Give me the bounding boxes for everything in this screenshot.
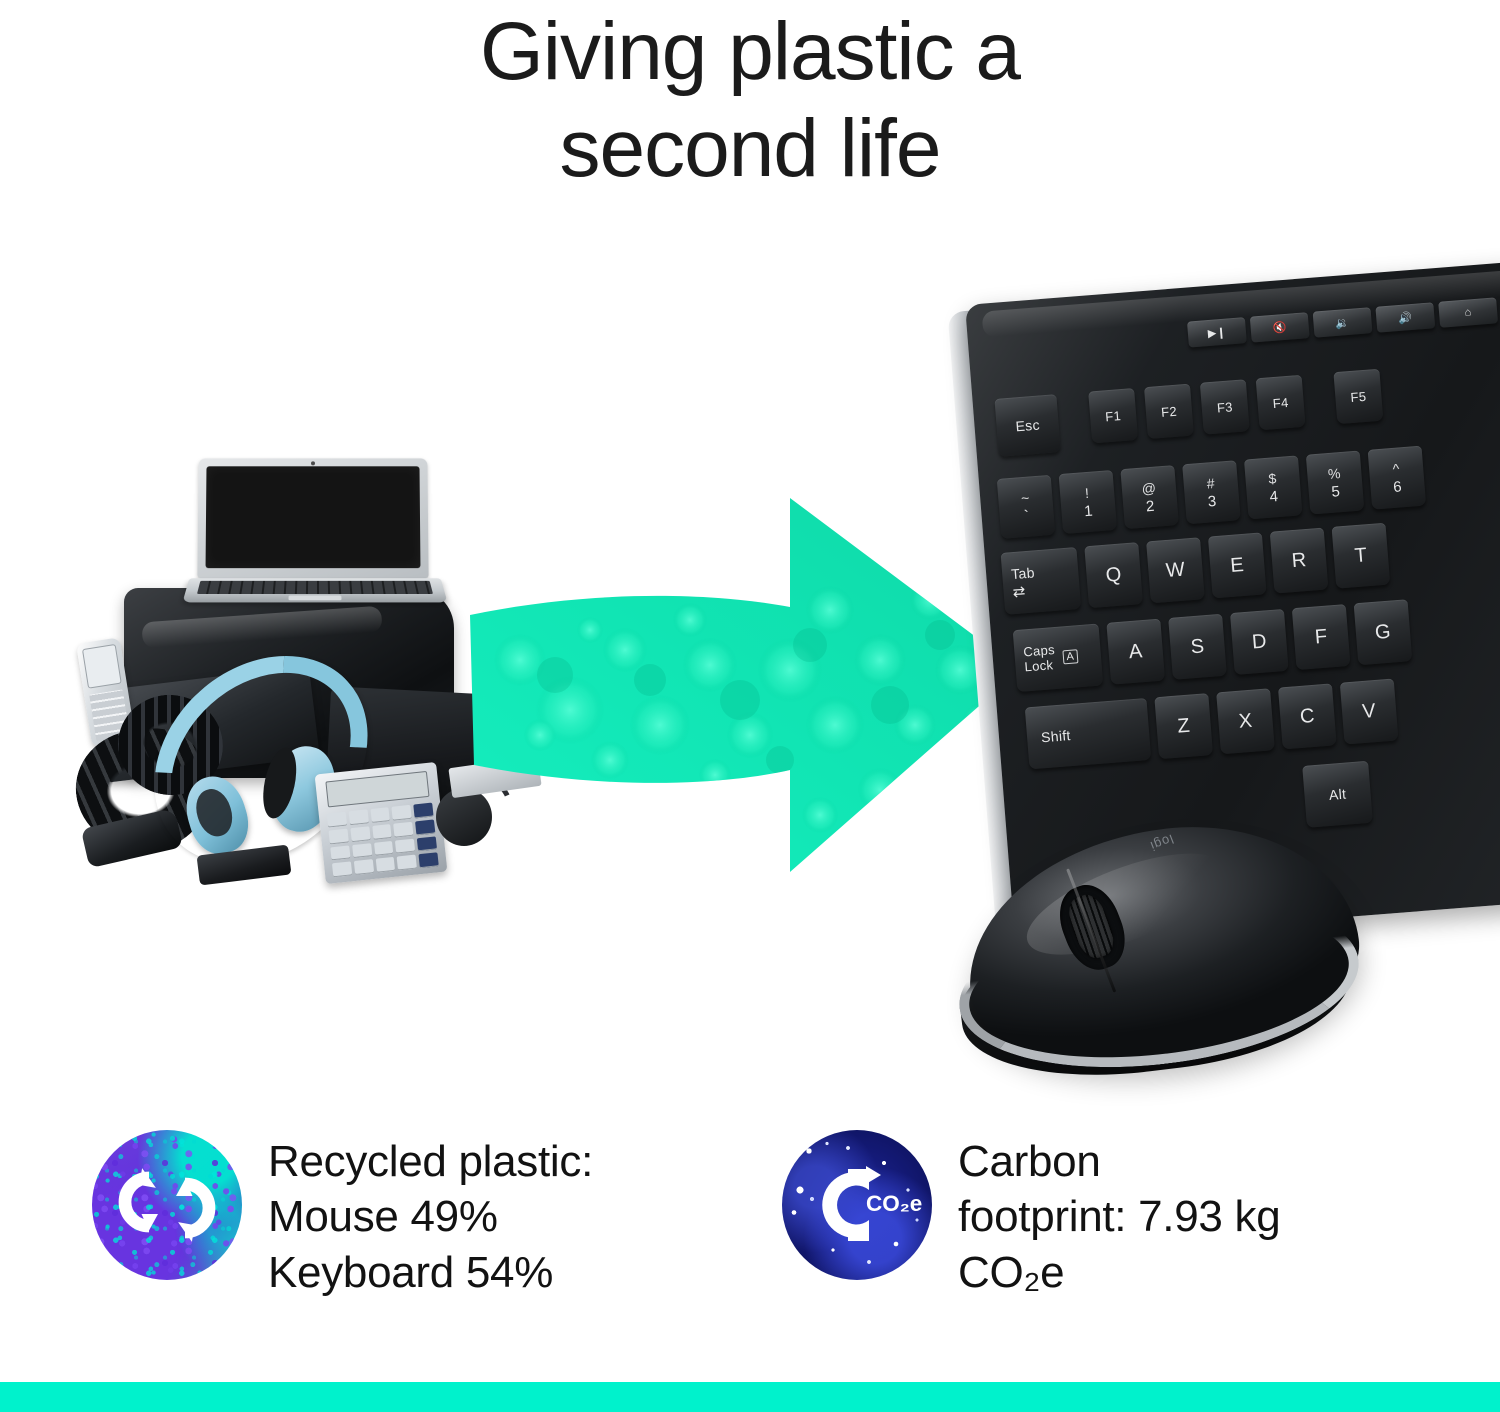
tab-arrows-icon: ⇄	[1012, 584, 1026, 600]
laptop-screen	[206, 466, 421, 568]
headline-line-1: Giving plastic a	[480, 6, 1020, 97]
key-play-pause-icon: ▶❙	[1187, 317, 1247, 347]
calculator-keypad	[327, 803, 439, 878]
key-c: C	[1278, 683, 1337, 749]
feature-carbon-footprint: CO₂e Carbon footprint: 7.93 kg CO₂e	[782, 1130, 1280, 1300]
key-esc: Esc	[994, 394, 1060, 457]
keyboard-function-row: Esc F1 F2 F3 F4 F5	[994, 369, 1383, 457]
key-3: # 3	[1182, 460, 1241, 524]
keyboard-qwerty-row: Tab ⇄ Q W E R T	[1001, 523, 1391, 615]
key-t: T	[1332, 523, 1391, 589]
bottom-accent-bar	[0, 1382, 1500, 1412]
key-6: ^ 6	[1368, 446, 1427, 510]
key-e: E	[1208, 532, 1267, 598]
page-title: Giving plastic a second life	[0, 4, 1500, 198]
key-s: S	[1168, 614, 1227, 680]
calculator-display	[325, 771, 429, 808]
key-4: $ 4	[1244, 455, 1303, 519]
blue-headphones-icon	[144, 668, 349, 858]
recycled-plastic-label: Recycled plastic: Mouse 49% Keyboard 54%	[268, 1130, 593, 1300]
mouse-image: logi	[950, 812, 1380, 1097]
key-2: @ 2	[1120, 465, 1179, 529]
key-caps-lock: Caps Lock A	[1013, 624, 1104, 693]
key-d: D	[1230, 609, 1289, 675]
recycle-loop-icon	[92, 1130, 242, 1280]
laptop-base	[182, 578, 447, 602]
mouse-brand-logo: logi	[1148, 831, 1176, 854]
key-f5: F5	[1333, 369, 1383, 424]
key-v: V	[1340, 679, 1399, 745]
keyboard-home-row: Caps Lock A A S D F G	[1013, 599, 1413, 692]
key-w: W	[1146, 537, 1205, 603]
key-shift: Shift	[1025, 698, 1151, 769]
key-volume-up-icon: 🔊	[1375, 302, 1435, 332]
old-calculator-icon	[315, 762, 448, 884]
poster-canvas: Giving plastic a second life	[0, 0, 1500, 1412]
key-f3: F3	[1200, 379, 1250, 434]
key-f4: F4	[1256, 375, 1306, 430]
laptop-camera-icon	[311, 461, 315, 465]
headline-line-2: second life	[0, 101, 1500, 198]
key-tab: Tab ⇄	[1001, 547, 1082, 615]
caps-lock-indicator-icon: A	[1062, 649, 1079, 664]
laptop-keys	[197, 581, 433, 594]
old-laptop-icon	[186, 458, 426, 608]
key-volume-down-icon: 🔉	[1313, 307, 1373, 337]
key-home-icon: ⌂	[1438, 297, 1498, 327]
feature-recycled-plastic: Recycled plastic: Mouse 49% Keyboard 54%	[92, 1130, 593, 1300]
carbon-footprint-icon: CO₂e	[782, 1130, 932, 1280]
key-f1: F1	[1088, 388, 1138, 443]
key-r: R	[1270, 528, 1329, 594]
key-f2: F2	[1144, 384, 1194, 439]
recycled-plastic-icon	[92, 1130, 242, 1280]
key-mute-icon: 🔇	[1250, 312, 1310, 342]
laptop-lid	[197, 458, 428, 578]
key-1: ! 1	[1059, 470, 1118, 534]
key-backtick: ~ `	[997, 475, 1056, 539]
key-g: G	[1354, 599, 1413, 665]
laptop-trackpad	[289, 595, 342, 600]
key-x: X	[1216, 688, 1275, 754]
key-a: A	[1106, 619, 1165, 685]
key-5: % 5	[1306, 450, 1365, 514]
carbon-icon-text: CO₂e	[866, 1191, 922, 1216]
carbon-c-icon: CO₂e	[782, 1130, 932, 1280]
key-z: Z	[1154, 693, 1213, 759]
flip-phone-screen	[82, 644, 122, 689]
key-f: F	[1292, 604, 1351, 670]
key-q: Q	[1084, 542, 1143, 608]
feature-row: Recycled plastic: Mouse 49% Keyboard 54%…	[0, 1122, 1500, 1322]
carbon-footprint-label: Carbon footprint: 7.93 kg CO₂e	[958, 1130, 1280, 1300]
keyboard-bottom-row: Shift Z X C V	[1025, 679, 1399, 770]
